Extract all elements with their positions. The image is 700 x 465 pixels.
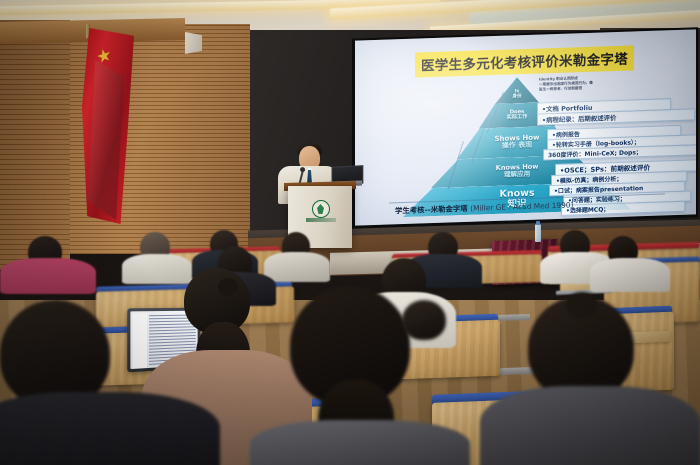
slide-caption-cn: 学生考核--米勒金字塔 xyxy=(395,204,470,215)
institution-emblem-icon xyxy=(312,200,330,218)
miller-pyramid: Identity 职业认同形成 一是展示出态度行为规范行为，像 医生一样思考、行… xyxy=(391,72,691,212)
tier-label-cn: 操作 表现 xyxy=(502,142,532,150)
slide-title: 医学生多元化考核评价米勒金字塔 xyxy=(415,45,634,77)
apex-note: Identity 职业认同形成 一是展示出态度行为规范行为，像 医生一样思考、行… xyxy=(539,75,631,94)
projection-screen: 医学生多元化考核评价米勒金字塔 Identity 职业认同形成 一是展示出态度行… xyxy=(355,29,696,225)
lecture-hall-photo: 医学生多元化考核评价米勒金字塔 Identity 职业认同形成 一是展示出态度行… xyxy=(0,0,700,465)
wood-wall-left-panel xyxy=(0,20,70,270)
tier-label-cn: 理解应用 xyxy=(504,171,530,179)
tier-label-cn: 实际工作 xyxy=(507,115,528,121)
apex-note-line-3: 医生一样思考、行动和感觉 xyxy=(539,85,631,93)
pyramid-tier-is: Is 身份 xyxy=(495,77,539,104)
tier-label-cn: 身份 xyxy=(512,95,521,100)
water-bottle xyxy=(535,224,541,242)
wall-speaker-icon xyxy=(185,32,202,54)
document-margin xyxy=(132,313,146,368)
institution-name-plate xyxy=(306,218,336,222)
